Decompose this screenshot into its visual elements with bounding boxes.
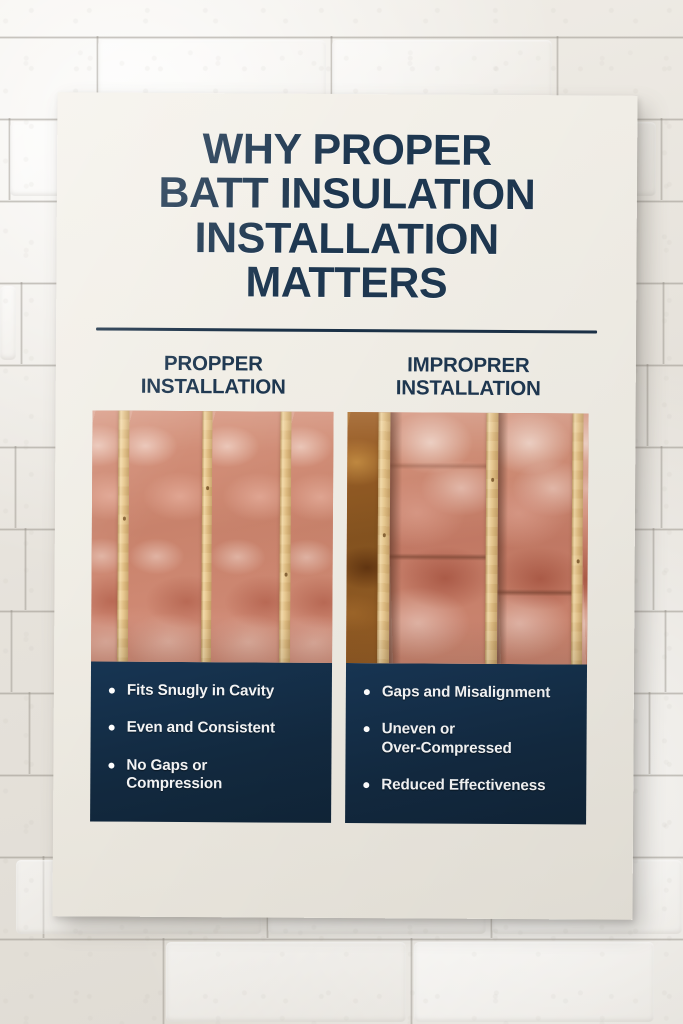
photo-improper-installation [346, 412, 589, 664]
bullet-dot-icon [364, 726, 370, 732]
bullet-text: Fits Snugly in Cavity [127, 682, 274, 700]
bullet-dot-icon [363, 782, 369, 788]
gap-shadow [497, 413, 509, 664]
insulation-bay [91, 411, 119, 662]
insulation-bay-compressed [389, 412, 487, 664]
list-item: Reduced Effectiveness [359, 776, 572, 796]
bullet-list-improper: Gaps and Misalignment Uneven or Over-Com… [359, 683, 573, 795]
insulation-bay [128, 411, 203, 662]
column-heading-improper: IMPROPRER INSTALLATION [348, 354, 589, 401]
insulation-bay-compressed [582, 414, 589, 665]
insulation-seam [497, 589, 571, 596]
column-heading-proper: PROPPER INSTALLATION [93, 353, 334, 400]
bullet-text: No Gaps or [126, 756, 207, 773]
bullet-list-proper: Fits Snugly in Cavity Even and Consisten… [104, 682, 318, 794]
title-line-3: INSTALLATION [87, 215, 607, 262]
bullet-text: Even and Consistent [127, 719, 275, 737]
bullet-dot-icon [109, 725, 115, 731]
list-item: No Gaps or Compression [104, 756, 317, 794]
bullet-dot-icon [108, 762, 114, 768]
bullet-text: Uneven or [382, 721, 455, 738]
brick-wall-background: WHY PROPER BATT INSULATION INSTALLATION … [0, 0, 683, 1024]
column-improper-installation: IMPROPRER INSTALLATION [345, 354, 589, 824]
poster-title-block: WHY PROPER BATT INSULATION INSTALLATION … [56, 92, 637, 334]
list-item: Even and Consistent [105, 719, 318, 739]
bullet-dot-icon [364, 689, 370, 695]
title-line-1: WHY PROPER [87, 126, 607, 173]
list-item: Uneven or Over-Compressed [359, 720, 572, 758]
bullet-box-proper: Fits Snugly in Cavity Even and Consisten… [90, 662, 332, 823]
bullet-text: Reduced Effectiveness [381, 776, 545, 794]
empty-insulation-bay [346, 412, 379, 663]
list-item: Gaps and Misalignment [360, 683, 573, 703]
insulation-bay [290, 412, 334, 663]
heading-line-2: INSTALLATION [93, 376, 334, 400]
page-title: WHY PROPER BATT INSULATION INSTALLATION … [86, 126, 607, 306]
title-divider [96, 328, 597, 334]
heading-line-1: IMPROPRER [348, 354, 589, 378]
bullet-text: Gaps and Misalignment [382, 683, 550, 701]
gap-shadow [389, 412, 403, 663]
heading-line-1: PROPPER [93, 353, 334, 377]
column-proper-installation: PROPPER INSTALLATION [90, 353, 334, 823]
bullet-box-improper: Gaps and Misalignment Uneven or Over-Com… [345, 663, 587, 824]
comparison-columns: PROPPER INSTALLATION [53, 352, 636, 825]
insulation-seam [390, 463, 486, 471]
infographic-poster: WHY PROPER BATT INSULATION INSTALLATION … [52, 92, 637, 920]
title-line-2: BATT INSULATION [87, 171, 607, 218]
bullet-text-line-2: Compression [126, 774, 317, 793]
list-item: Fits Snugly in Cavity [105, 682, 318, 702]
bullet-text-line-2: Over-Compressed [381, 739, 572, 758]
heading-line-2: INSTALLATION [348, 377, 589, 401]
insulation-seam [390, 553, 486, 561]
insulation-bay-compressed [497, 413, 573, 664]
bullet-dot-icon [109, 688, 115, 694]
title-line-4: MATTERS [86, 259, 606, 306]
photo-proper-installation [91, 411, 334, 663]
insulation-bay [211, 411, 281, 662]
